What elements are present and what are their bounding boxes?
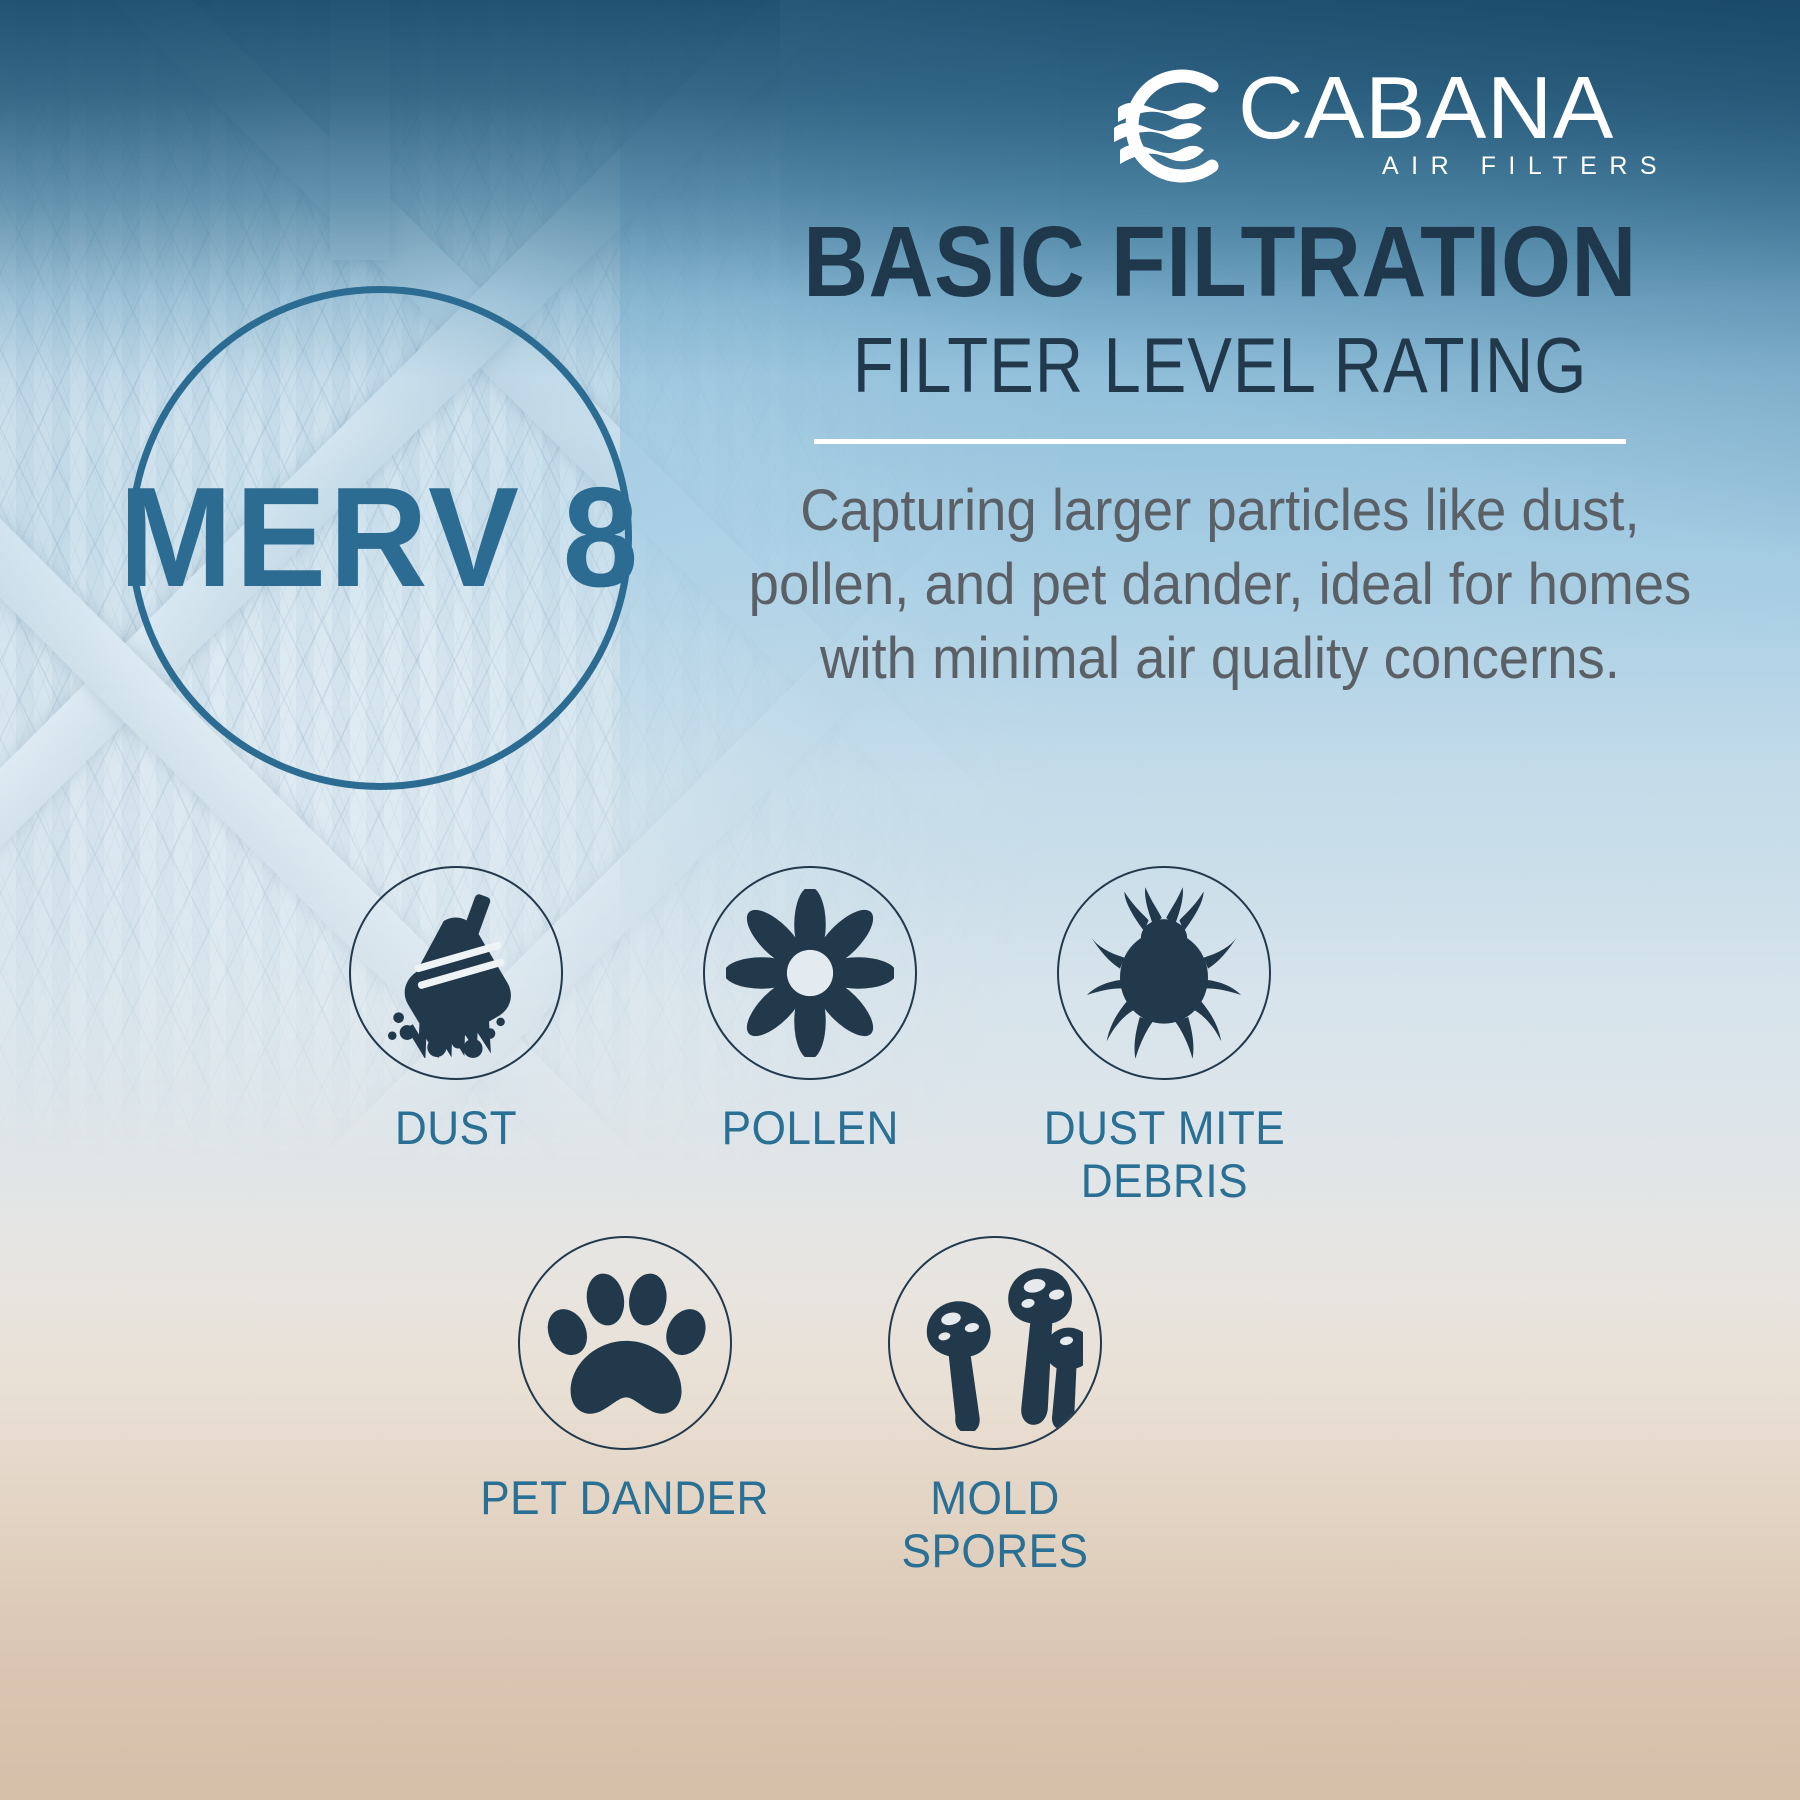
flower-icon [703,866,917,1080]
page-title: BASIC FILTRATION [743,212,1697,312]
broom-icon [349,866,563,1080]
particle-item-dust: DUST [301,866,611,1207]
particle-label: POLLEN [721,1102,898,1155]
brand-logo-text: CABANA [1238,62,1603,150]
dust-mite-icon [1057,866,1271,1080]
paw-print-icon [518,1236,732,1450]
description-text: Capturing larger particles like dust, po… [722,474,1718,697]
particle-item-pollen: POLLEN [655,866,965,1207]
particle-item-mold-spores: MOLD SPORES [840,1236,1150,1577]
particle-label: PET DANDER [481,1472,770,1525]
headline-block: BASIC FILTRATION FILTER LEVEL RATING Cap… [690,212,1750,696]
brand-name: CABANA [1238,66,1614,150]
particle-label: DUST [395,1102,517,1155]
page-subtitle: FILTER LEVEL RATING [764,324,1676,407]
brand-tagline: AIR FILTERS [1382,152,1669,181]
divider-rule [814,439,1626,444]
particle-label: MOLD SPORES [849,1472,1140,1577]
cabana-wave-c-icon [1100,64,1232,188]
particle-icon-row-bottom: PET DANDER [420,1236,1200,1577]
mold-spores-icon [888,1236,1102,1450]
particle-label: DUST MITE DEBRIS [1043,1102,1285,1207]
merv-rating-label: MERV 8 [119,467,641,609]
particle-item-dust-mite: DUST MITE DEBRIS [1009,866,1319,1207]
merv-rating-badge: MERV 8 [128,286,632,790]
particle-icon-row-top: DUST [300,866,1320,1207]
infographic-canvas: CABANA AIR FILTERS BASIC FILTRATION FILT… [0,0,1800,1800]
particle-item-pet-dander: PET DANDER [470,1236,780,1577]
